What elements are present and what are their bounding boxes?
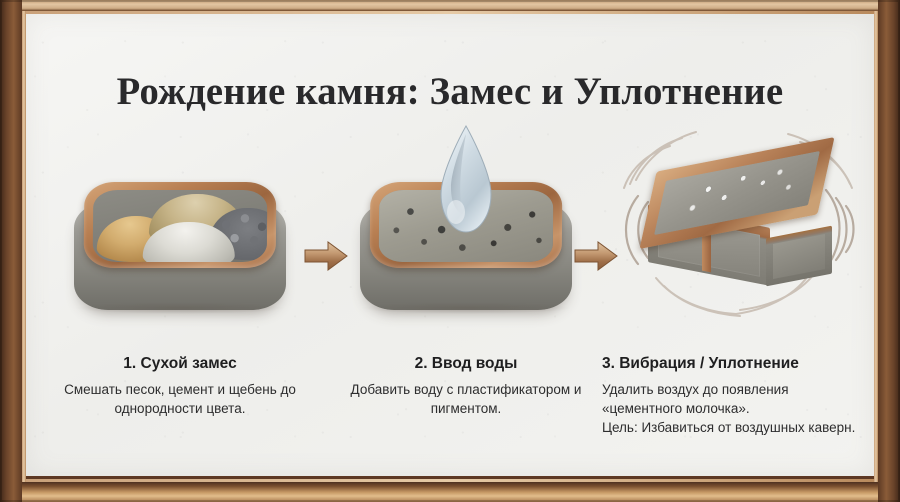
step-2-caption: 2. Ввод воды Добавить воду с пластификат… <box>342 354 590 418</box>
frame-bottom-edge <box>0 482 900 502</box>
concrete-mold-form <box>642 156 838 282</box>
step-2-heading: 2. Ввод воды <box>342 354 590 373</box>
frame-left-edge <box>0 0 22 502</box>
step-3-heading: 3. Вибрация / Уплотнение <box>602 354 870 373</box>
mixing-tray-dry <box>74 202 286 310</box>
tray-interior <box>93 190 268 262</box>
step-1-illustration <box>56 118 304 328</box>
step-1-caption: 1. Сухой замес Смешать песок, цемент и щ… <box>56 354 304 418</box>
poster-frame: Рождение камня: Замес и Уплотнение <box>0 0 900 502</box>
tray-copper-rim <box>84 182 277 268</box>
step-1-body: Смешать песок, цемент и щебень до одноро… <box>56 380 304 418</box>
frame-inner-bevel-bottom <box>22 479 878 482</box>
page-title: Рождение камня: Замес и Уплотнение <box>30 70 870 114</box>
frame-inner-bevel-right <box>874 11 878 482</box>
mold-concrete-surface <box>654 151 820 235</box>
poster-canvas: Рождение камня: Замес и Уплотнение <box>26 14 874 476</box>
step-2-body: Добавить воду с пластификатором и пигмен… <box>342 380 590 418</box>
step-2-illustration <box>342 118 590 328</box>
step-3-illustration <box>612 118 870 328</box>
frame-top-edge <box>0 0 900 11</box>
mold-side-panel <box>773 234 825 279</box>
water-droplet-icon <box>429 124 503 236</box>
step-3-body: Удалить воздух до появления «цементного … <box>602 380 870 437</box>
step-3-caption: 3. Вибрация / Уплотнение Удалить воздух … <box>602 354 870 437</box>
frame-right-edge <box>878 0 900 502</box>
mold-side-face <box>766 226 832 287</box>
step-1-heading: 1. Сухой замес <box>56 354 304 373</box>
